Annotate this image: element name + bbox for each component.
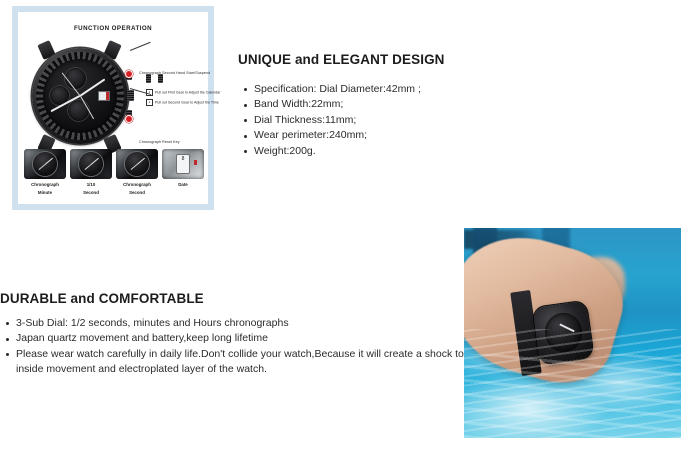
- thumbnail-label-second-line1: Chronograph: [116, 182, 158, 188]
- list-item: Weight:200g.: [240, 144, 480, 159]
- thumbnail-date: 8 Date: [162, 149, 204, 196]
- lifestyle-photo-watch-in-water: [464, 228, 681, 438]
- subdial-thumbnail-strip: Chronograph Minute 1/10 Second Chronogra…: [24, 149, 202, 196]
- specification-list: Specification: Dial Diameter:42mm ; Band…: [240, 82, 480, 159]
- thumbnail-date-accent: [194, 160, 197, 165]
- section-heading-durable: DURABLE and COMFORTABLE: [0, 291, 204, 306]
- gear-number-icon-1: 1: [146, 89, 153, 96]
- thumbnail-tenth-second: 1/10 Second: [70, 149, 112, 196]
- gear-instruction-first-label: Pull out First Gear to Adjust the Calend…: [155, 90, 220, 94]
- subdial-bottom: [68, 100, 89, 121]
- thumbnail-image-minute: [24, 149, 66, 179]
- thumbnail-chronograph-minute: Chronograph Minute: [24, 149, 66, 196]
- subdial-top: [65, 68, 86, 89]
- product-detail-page: FUNCTION OPERATION: [0, 0, 690, 451]
- list-item: Dial Thickness:11mm;: [240, 113, 480, 128]
- thumbnail-label-minute-line2: Minute: [24, 190, 66, 196]
- thumbnail-label-date-line1: Date: [162, 182, 204, 188]
- function-operation-diagram: FUNCTION OPERATION: [12, 6, 214, 210]
- thumbnail-label-second-line2: Second: [116, 190, 158, 196]
- diagram-title: FUNCTION OPERATION: [18, 25, 208, 32]
- durability-list: 3-Sub Dial: 1/2 seconds, minutes and Hou…: [2, 316, 484, 378]
- list-item: Band Width:22mm;: [240, 97, 480, 112]
- callout-marker-top-icon: [125, 70, 133, 78]
- gear-instruction-second-label: Pull out Second Gear to Adjust the Time: [155, 100, 219, 104]
- thumbnail-label-tenth-line2: Second: [70, 190, 112, 196]
- section-heading-unique: UNIQUE and ELEGANT DESIGN: [238, 52, 445, 67]
- thumbnail-label-minute-line1: Chronograph: [24, 182, 66, 188]
- gear-instruction-second: 2Pull out Second Gear to Adjust the Time: [146, 99, 220, 106]
- gear-instruction-first: 1Pull out First Gear to Adjust the Calen…: [146, 89, 220, 96]
- callout-label-reset-key: Chronograph Reset Key: [139, 140, 180, 144]
- gear-number-icon-2: 2: [146, 99, 153, 106]
- thumbnail-date-value: 8: [176, 154, 190, 174]
- photo-water-ripples-secondary: [464, 354, 681, 438]
- thumbnail-image-second: [116, 149, 158, 179]
- list-item: Japan quartz movement and battery,keep l…: [2, 331, 484, 346]
- date-window: [98, 91, 110, 101]
- gear-instructions: 1Pull out First Gear to Adjust the Calen…: [146, 89, 220, 108]
- callout-marker-bottom-icon: [125, 115, 133, 123]
- thumbnail-image-tenth: [70, 149, 112, 179]
- list-item: Wear perimeter:240mm;: [240, 128, 480, 143]
- list-item: Please wear watch carefully in daily lif…: [2, 347, 484, 378]
- gear-stem-second: [158, 74, 163, 83]
- list-item: 3-Sub Dial: 1/2 seconds, minutes and Hou…: [2, 316, 484, 331]
- thumbnail-chronograph-second: Chronograph Second: [116, 149, 158, 196]
- watch-illustration: [26, 42, 136, 152]
- thumbnail-image-date: 8: [162, 149, 204, 179]
- list-item: Specification: Dial Diameter:42mm ;: [240, 82, 480, 97]
- thumbnail-label-tenth-line1: 1/10: [70, 182, 112, 188]
- diagram-inner-panel: FUNCTION OPERATION: [18, 12, 208, 204]
- watch-crown: [127, 90, 134, 101]
- gear-stem-first: [146, 74, 151, 83]
